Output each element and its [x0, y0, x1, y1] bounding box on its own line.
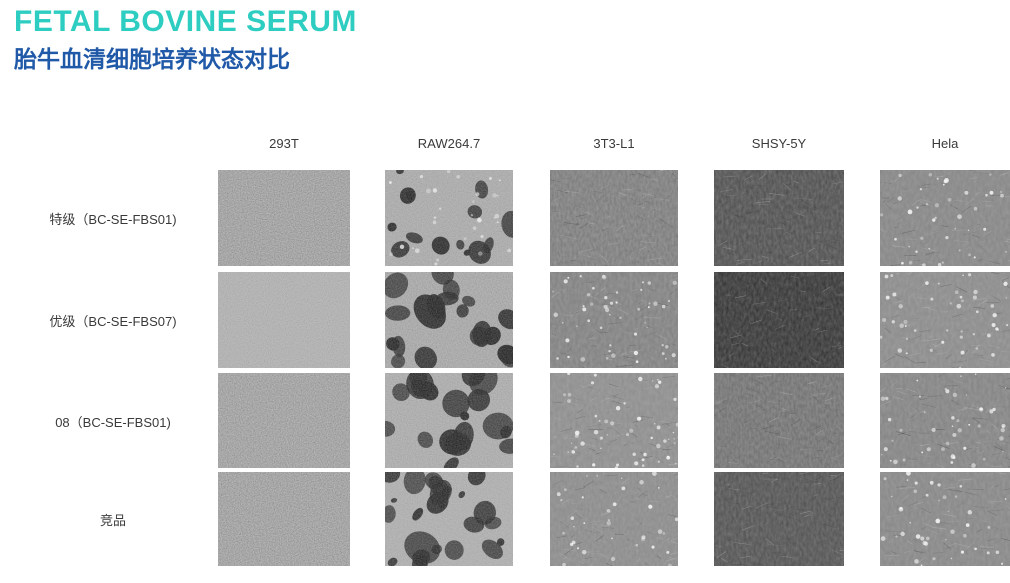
row-label-row-jingpin: 竞品 [18, 510, 208, 529]
micrograph-texture [880, 472, 1010, 566]
micrograph-texture [385, 170, 513, 266]
page-title-chinese: 胎牛血清细胞培养状态对比 [14, 43, 614, 75]
micrograph-texture [550, 170, 678, 266]
micrograph-texture [385, 373, 513, 468]
micrograph-08-shsy5y [714, 373, 844, 468]
micrograph-texture [218, 472, 350, 566]
micrograph-texture [880, 373, 1010, 468]
micrograph-jingpin-hela [880, 472, 1010, 566]
row-label-row-youjii: 优级（BC-SE-FBS07) [18, 311, 208, 330]
micrograph-texture [714, 373, 844, 468]
micrograph-texture [218, 272, 350, 368]
micrograph-youjii-3t3l1 [550, 272, 678, 368]
column-header-293t: 293T [218, 136, 350, 151]
micrograph-comparison-grid: 293TRAW264.73T3-L1SHSY-5YHela特级（BC-SE-FB… [0, 128, 1010, 583]
column-header-raw2647: RAW264.7 [385, 136, 513, 151]
page-title-english: FETAL BOVINE SERUM [14, 4, 614, 40]
micrograph-youjii-shsy5y [714, 272, 844, 368]
micrograph-tejii-293t [218, 170, 350, 266]
page-header: FETAL BOVINE SERUM 胎牛血清细胞培养状态对比 [14, 4, 614, 75]
micrograph-texture [714, 272, 844, 368]
micrograph-tejii-hela [880, 170, 1010, 266]
micrograph-texture [880, 170, 1010, 266]
row-label-row-tejii: 特级（BC-SE-FBS01) [18, 209, 208, 228]
micrograph-tejii-shsy5y [714, 170, 844, 266]
micrograph-texture [550, 472, 678, 566]
micrograph-youjii-raw2647 [385, 272, 513, 368]
row-label-row-08: 08（BC-SE-FBS01) [18, 412, 208, 431]
micrograph-08-hela [880, 373, 1010, 468]
micrograph-08-raw2647 [385, 373, 513, 468]
micrograph-08-3t3l1 [550, 373, 678, 468]
micrograph-youjii-hela [880, 272, 1010, 368]
column-header-shsy5y: SHSY-5Y [714, 136, 844, 151]
column-header-hela: Hela [880, 136, 1010, 151]
micrograph-texture [550, 272, 678, 368]
micrograph-jingpin-shsy5y [714, 472, 844, 566]
micrograph-jingpin-raw2647 [385, 472, 513, 566]
micrograph-08-293t [218, 373, 350, 468]
micrograph-texture [385, 472, 513, 566]
micrograph-texture [714, 170, 844, 266]
micrograph-tejii-3t3l1 [550, 170, 678, 266]
column-header-3t3l1: 3T3-L1 [550, 136, 678, 151]
micrograph-jingpin-3t3l1 [550, 472, 678, 566]
micrograph-texture [218, 373, 350, 468]
micrograph-texture [218, 170, 350, 266]
micrograph-texture [880, 272, 1010, 368]
micrograph-texture [714, 472, 844, 566]
micrograph-texture [550, 373, 678, 468]
micrograph-youjii-293t [218, 272, 350, 368]
micrograph-jingpin-293t [218, 472, 350, 566]
micrograph-texture [385, 272, 513, 368]
micrograph-tejii-raw2647 [385, 170, 513, 266]
